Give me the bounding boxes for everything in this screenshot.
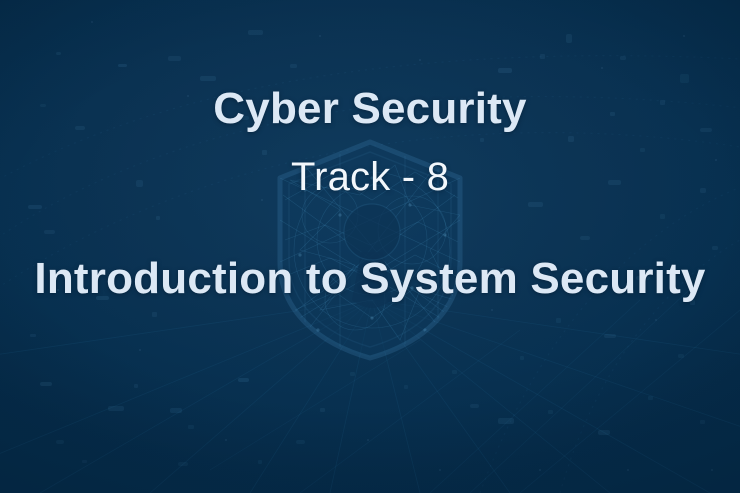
- topic-title: Introduction to System Security: [0, 256, 740, 302]
- track-label: Track - 8: [0, 156, 740, 198]
- presentation-slide: Cyber Security Track - 8 Introduction to…: [0, 0, 740, 493]
- slide-content: Cyber Security Track - 8 Introduction to…: [0, 0, 740, 493]
- course-title: Cyber Security: [0, 86, 740, 132]
